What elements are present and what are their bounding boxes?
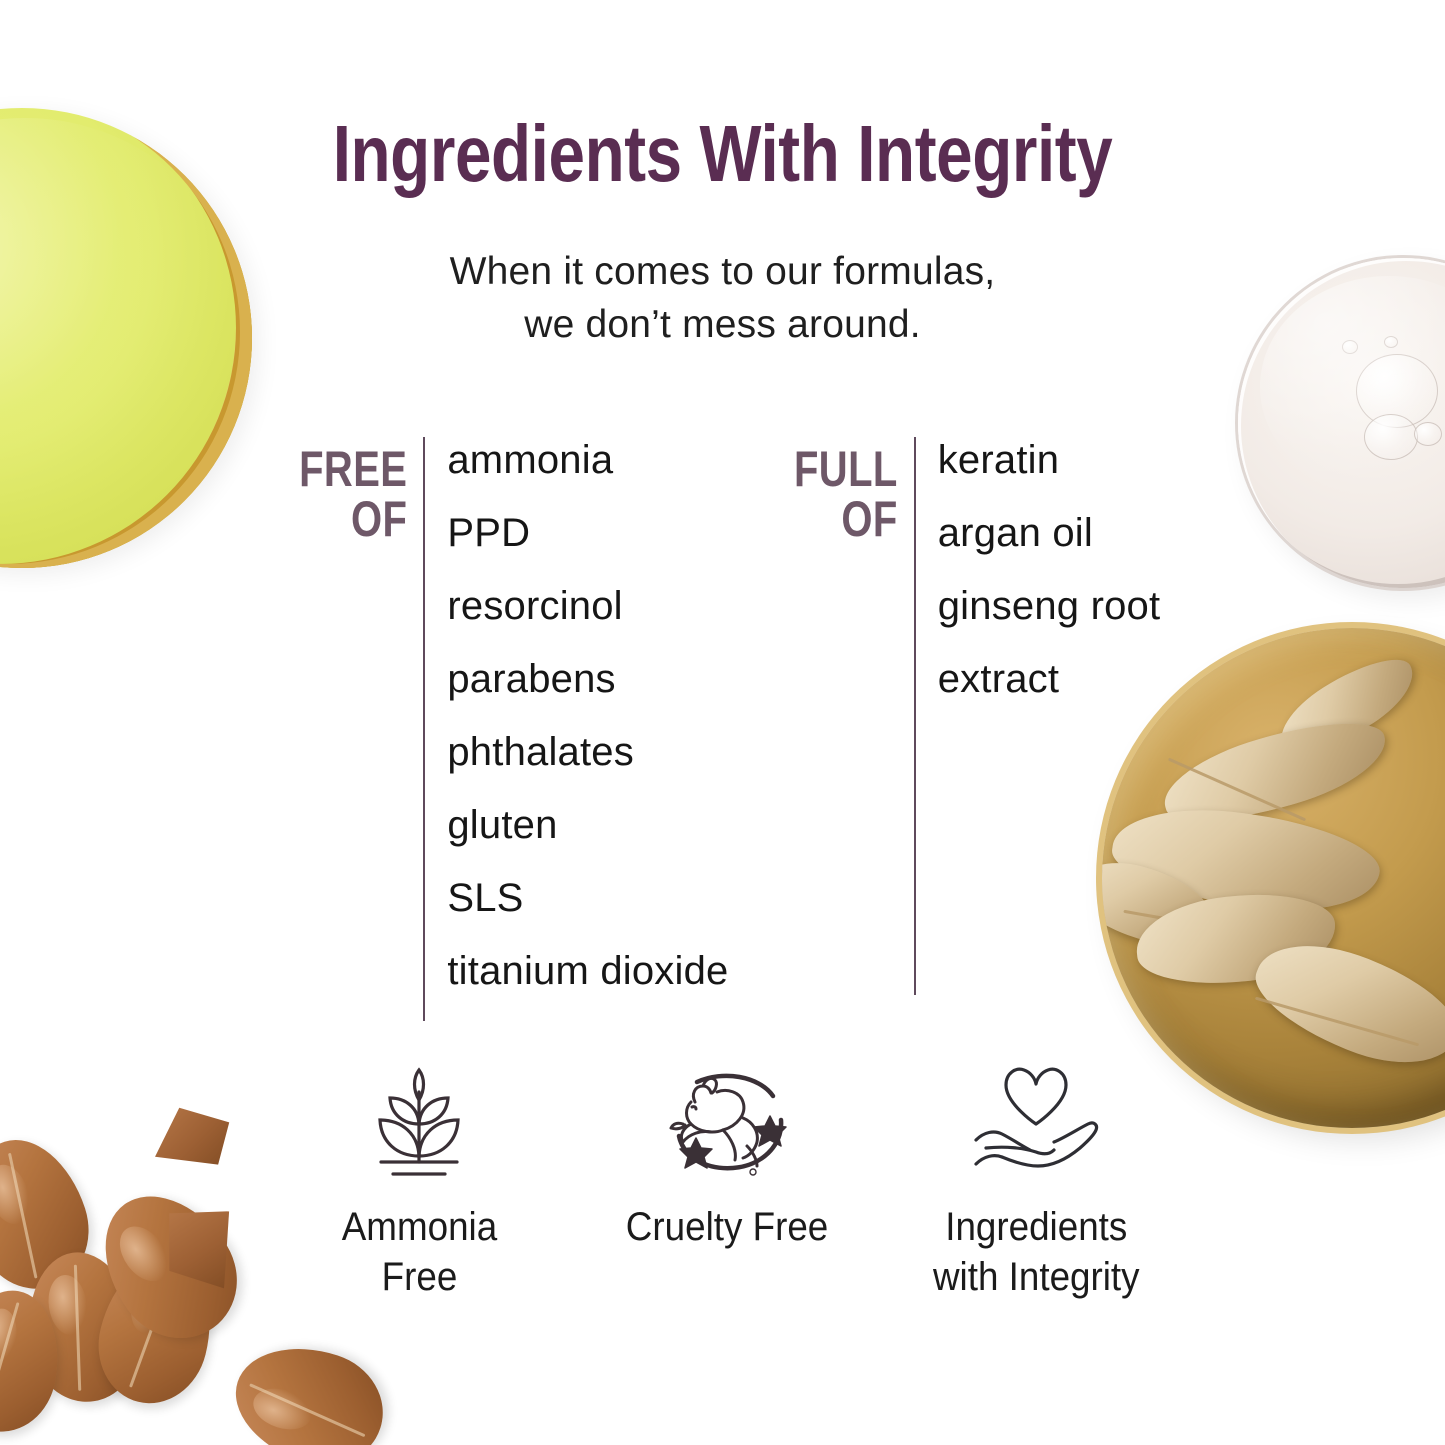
badge-ingredients-with-integrity: Ingredients with Integrity [882, 1062, 1190, 1302]
badge-label: Ammonia Free [341, 1202, 496, 1302]
badge-label: Cruelty Free [626, 1202, 828, 1252]
full-of-list: keratin argan oil ginseng root extract [938, 437, 1161, 729]
sprout-plant-icon [363, 1062, 475, 1180]
badge-label-line-2: with Integrity [933, 1252, 1140, 1302]
list-item: extract [938, 656, 1161, 729]
full-of-heading-line-1: FULL [794, 441, 898, 497]
free-of-heading-line-2: OF [299, 494, 407, 544]
list-item: titanium dioxide [447, 948, 728, 1021]
heart-in-hand-icon [962, 1062, 1110, 1180]
page-subtitle: When it comes to our formulas, we don’t … [0, 245, 1445, 351]
list-item: ginseng root [938, 583, 1161, 656]
argan-nut [220, 1329, 397, 1445]
full-of-heading: FULL OF [794, 437, 898, 544]
full-of-divider [914, 437, 916, 995]
list-item: parabens [447, 656, 728, 729]
list-item: resorcinol [447, 583, 728, 656]
free-of-heading-line-1: FREE [299, 441, 407, 497]
gel-bubble [1364, 414, 1418, 460]
subtitle-line-1: When it comes to our formulas, [450, 250, 996, 293]
gel-bubble [1356, 354, 1438, 428]
page-title: Ingredients With Integrity [130, 108, 1315, 200]
list-item: SLS [447, 875, 728, 948]
free-of-heading: FREE OF [299, 437, 407, 544]
ingredients-infographic: Ingredients With Integrity When it comes… [0, 0, 1445, 1445]
free-of-column: FREE OF ammonia PPD resorcinol parabens … [272, 437, 729, 1021]
badge-label-line-1: Cruelty Free [626, 1205, 828, 1249]
gel-bubble [1414, 422, 1442, 446]
badge-label-line-1: Ammonia [341, 1205, 496, 1249]
badge-cruelty-free: Cruelty Free [573, 1062, 881, 1302]
badge-label-line-1: Ingredients [945, 1205, 1127, 1249]
full-of-heading-line-2: OF [794, 494, 898, 544]
list-item: PPD [447, 510, 728, 583]
free-of-divider [423, 437, 425, 1021]
list-item: ammonia [447, 437, 728, 510]
list-item: gluten [447, 802, 728, 875]
certification-badge-row: Ammonia Free [265, 1062, 1190, 1302]
subtitle-line-2: we don’t mess around. [524, 303, 921, 346]
leaping-bunny-icon [661, 1062, 793, 1180]
badge-label: Ingredients with Integrity [933, 1202, 1140, 1302]
full-of-column: FULL OF keratin argan oil ginseng root e… [768, 437, 1160, 995]
badge-label-line-2: Free [341, 1252, 496, 1302]
list-item: argan oil [938, 510, 1161, 583]
argan-shell-shard [145, 1100, 237, 1175]
free-of-list: ammonia PPD resorcinol parabens phthalat… [447, 437, 728, 1021]
list-item: phthalates [447, 729, 728, 802]
list-item: keratin [938, 437, 1161, 510]
badge-ammonia-free: Ammonia Free [265, 1062, 573, 1302]
